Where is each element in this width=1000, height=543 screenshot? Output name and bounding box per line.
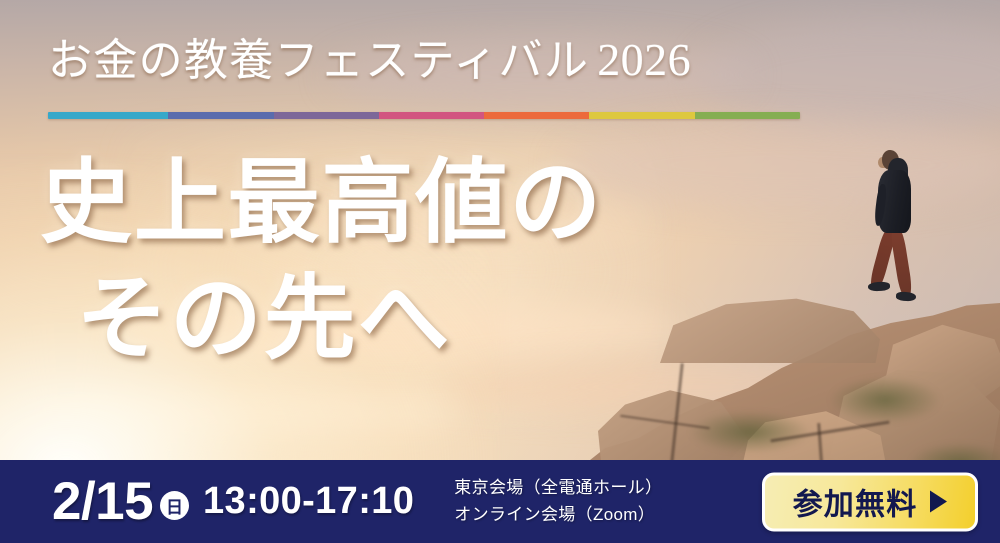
- moss-patch: [690, 411, 810, 453]
- venue-block: 東京会場（全電通ホール） オンライン会場（Zoom）: [454, 475, 662, 528]
- accent-segment-purple: [274, 112, 379, 119]
- accent-segment-orange: [484, 112, 589, 119]
- day-of-week-badge: 日: [160, 491, 189, 520]
- person-shoe-front: [896, 291, 917, 301]
- title-block: お金の教養フェスティバル2026: [48, 34, 808, 86]
- accent-segment-indigo-blue: [168, 112, 273, 119]
- date-block: 2/15 日 13:00-17:10: [52, 475, 414, 528]
- footer-bar: 2/15 日 13:00-17:10 東京会場（全電通ホール） オンライン会場（…: [0, 460, 1000, 543]
- headline-line-1: 史上最高値の: [40, 152, 603, 254]
- event-date: 2/15: [52, 475, 153, 528]
- accent-segment-yellow: [589, 112, 694, 119]
- venue-item-tokyo: 東京会場（全電通ホール）: [454, 475, 662, 501]
- person-shoe-back: [868, 281, 890, 291]
- moss-patch: [830, 377, 940, 423]
- person-silhouette: [860, 150, 930, 315]
- play-triangle-icon: [930, 491, 947, 513]
- accent-segment-green: [695, 112, 800, 119]
- venue-item-online: オンライン会場（Zoom）: [454, 502, 662, 528]
- cta-label: 参加無料: [793, 480, 918, 524]
- event-banner: お金の教養フェスティバル2026 史上最高値の その先へ 2/15 日 13:0…: [0, 0, 1000, 543]
- free-entry-cta-button[interactable]: 参加無料: [762, 472, 978, 531]
- headline-line-2: その先へ: [40, 262, 700, 378]
- headline: 史上最高値の その先へ: [40, 146, 700, 378]
- accent-color-bar: [48, 112, 800, 119]
- event-title: お金の教養フェスティバル2026: [48, 34, 808, 86]
- event-time: 13:00-17:10: [203, 480, 414, 523]
- person-leg-front: [890, 227, 913, 296]
- accent-segment-cyan-blue: [48, 112, 168, 119]
- accent-segment-pink: [379, 112, 484, 119]
- event-title-year: 2026: [597, 34, 691, 85]
- event-title-text: お金の教養フェスティバル: [48, 36, 589, 85]
